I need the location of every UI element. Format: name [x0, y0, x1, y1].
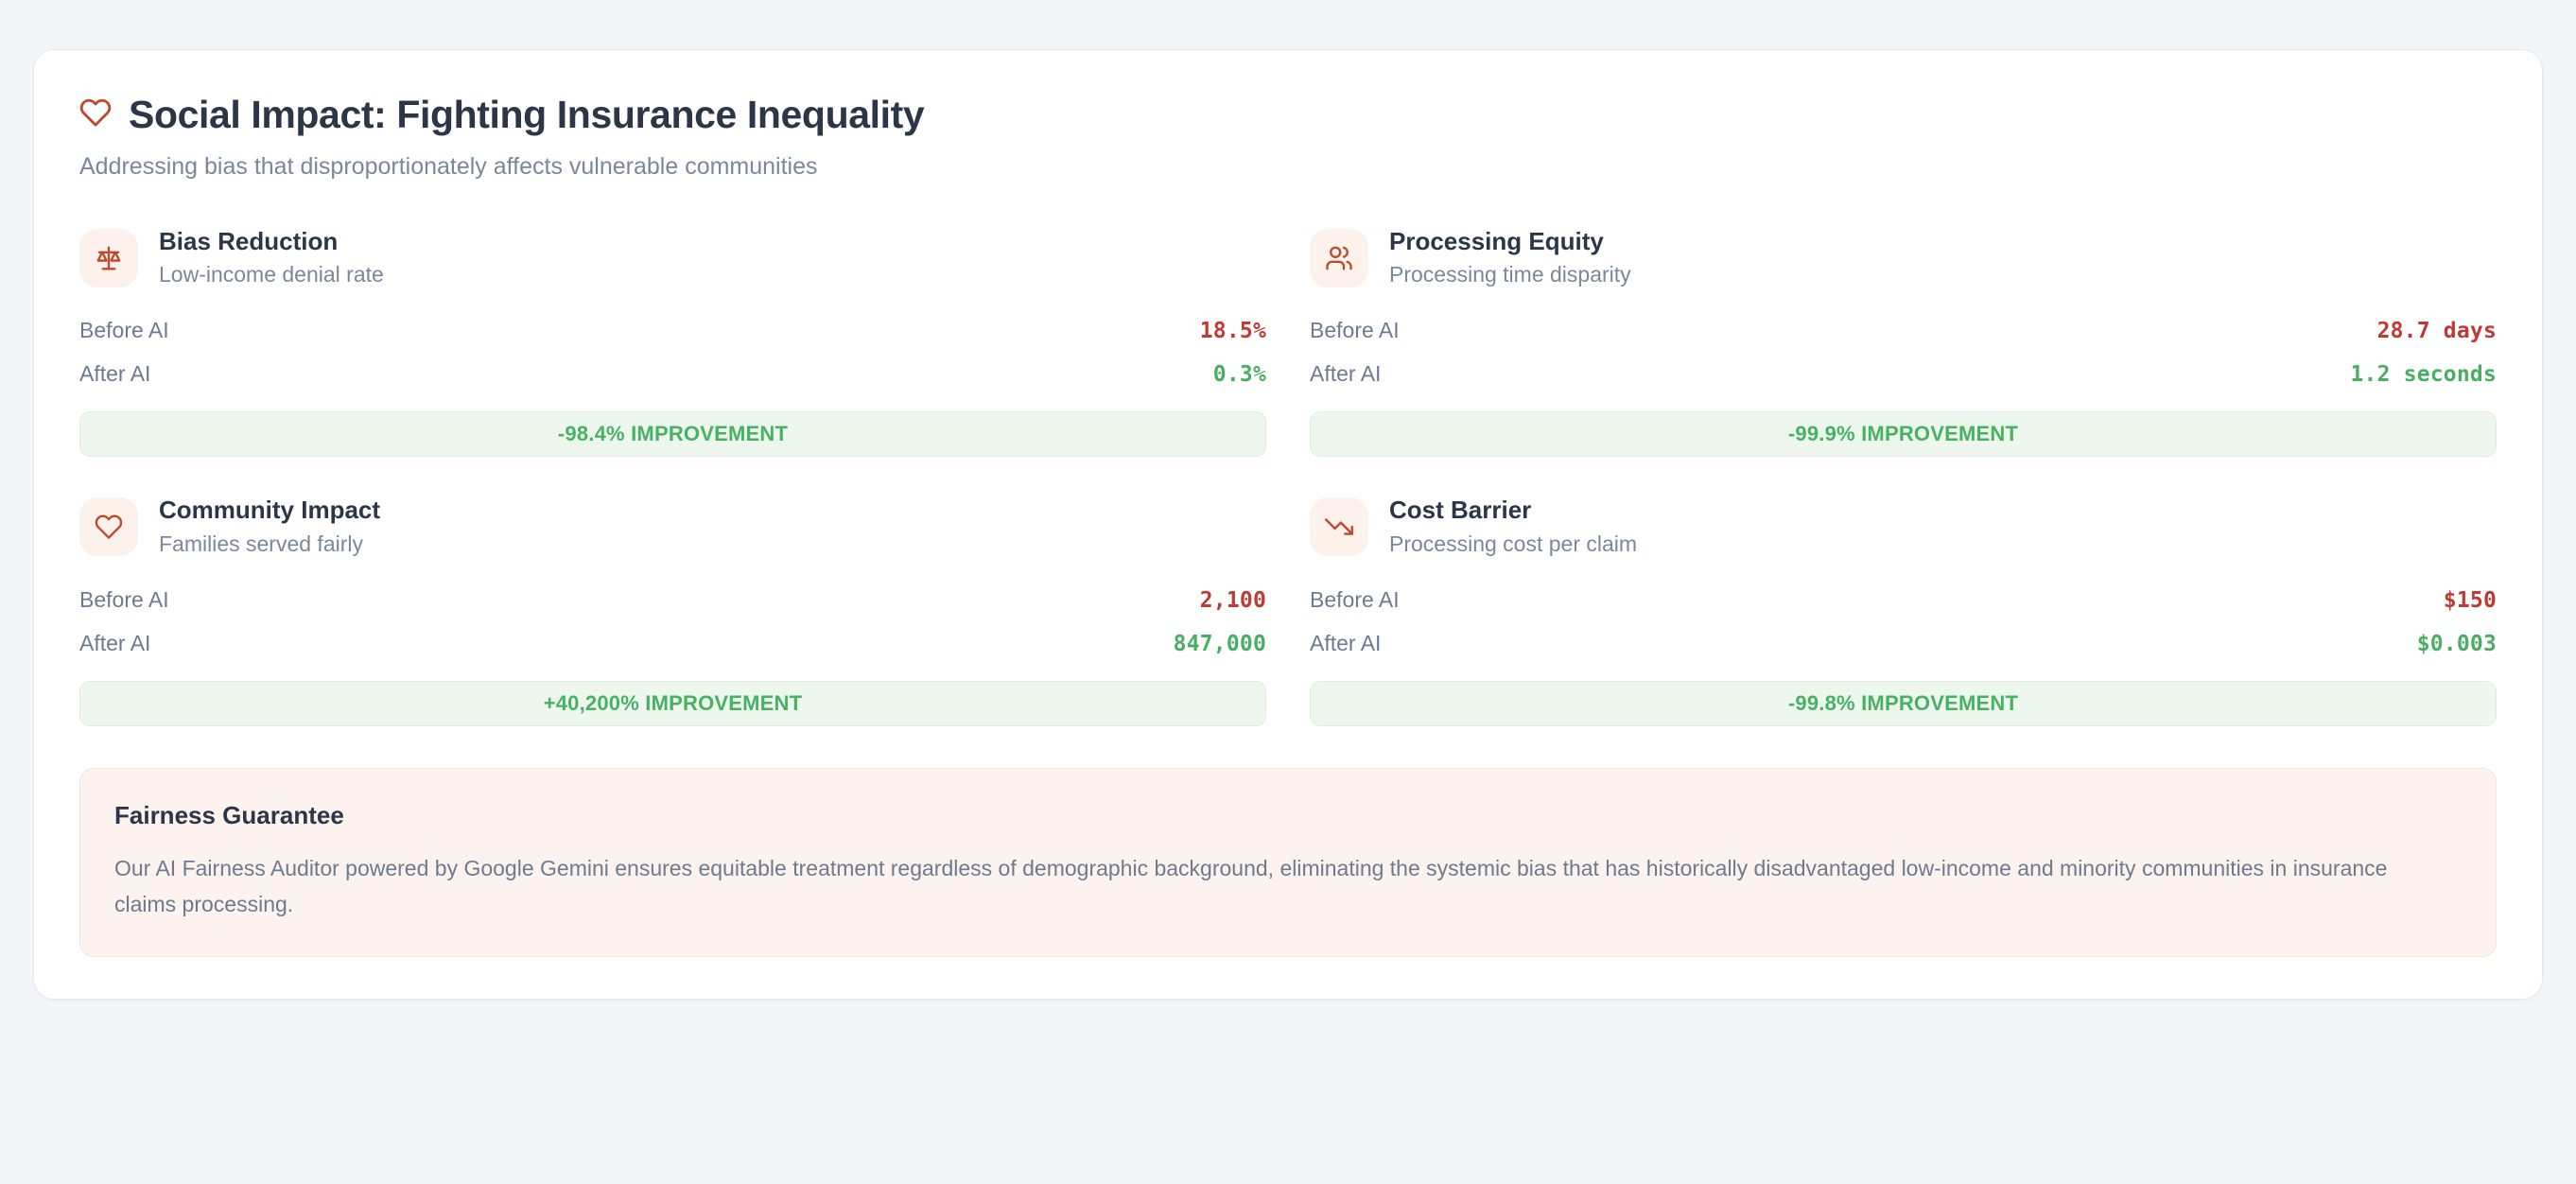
title-row: Social Impact: Fighting Insurance Inequa…: [79, 94, 2497, 136]
before-value: 2,100: [1200, 588, 1266, 613]
metric-row-before: Before AI 18.5%: [79, 313, 1266, 348]
metric-header: Processing Equity Processing time dispar…: [1310, 228, 2497, 288]
metric-title: Cost Barrier: [1389, 496, 1637, 525]
metric-description: Low-income denial rate: [159, 262, 384, 288]
metric-row-after: After AI 847,000: [79, 626, 1266, 661]
users-icon: [1310, 229, 1368, 287]
metric-header: Community Impact Families served fairly: [79, 496, 1266, 557]
metric-header: Bias Reduction Low-income denial rate: [79, 228, 1266, 288]
metric-row-before: Before AI 28.7 days: [1310, 313, 2497, 348]
after-value: $0.003: [2417, 632, 2497, 656]
page-title: Social Impact: Fighting Insurance Inequa…: [129, 94, 924, 136]
before-label: Before AI: [79, 587, 169, 613]
metric-title: Bias Reduction: [159, 228, 384, 256]
before-value: $150: [2444, 588, 2497, 613]
metric-description: Processing time disparity: [1389, 262, 1631, 288]
metric-header: Cost Barrier Processing cost per claim: [1310, 496, 2497, 557]
metric-description: Processing cost per claim: [1389, 531, 1637, 558]
improvement-badge: -99.9% IMPROVEMENT: [1310, 411, 2497, 457]
metric-row-after: After AI 0.3%: [79, 357, 1266, 392]
heart-icon: [79, 96, 112, 133]
panel-header: Social Impact: Fighting Insurance Inequa…: [79, 94, 2497, 183]
improvement-badge: +40,200% IMPROVEMENT: [79, 681, 1266, 726]
metric-title: Processing Equity: [1389, 228, 1631, 256]
before-label: Before AI: [1310, 318, 1400, 343]
page-root: Social Impact: Fighting Insurance Inequa…: [0, 0, 2576, 1000]
before-value: 28.7 days: [2377, 319, 2497, 343]
metric-description: Families served fairly: [159, 531, 380, 558]
after-label: After AI: [79, 361, 150, 387]
heart-icon: [79, 497, 138, 556]
before-label: Before AI: [1310, 587, 1400, 613]
after-value: 0.3%: [1213, 362, 1266, 387]
fairness-guarantee-title: Fairness Guarantee: [114, 801, 2462, 830]
fairness-guarantee-text: Our AI Fairness Auditor powered by Googl…: [114, 851, 2403, 923]
metric-card-community-impact: Community Impact Families served fairly …: [79, 493, 1266, 725]
fairness-guarantee-box: Fairness Guarantee Our AI Fairness Audit…: [79, 768, 2497, 958]
before-value: 18.5%: [1200, 319, 1266, 343]
metric-row-before: Before AI 2,100: [79, 583, 1266, 618]
metric-card-processing-equity: Processing Equity Processing time dispar…: [1310, 224, 2497, 457]
metric-row-before: Before AI $150: [1310, 583, 2497, 618]
metric-row-after: After AI $0.003: [1310, 626, 2497, 661]
trending-down-icon: [1310, 497, 1368, 556]
after-label: After AI: [1310, 361, 1381, 387]
metric-card-cost-barrier: Cost Barrier Processing cost per claim B…: [1310, 493, 2497, 725]
after-value: 1.2 seconds: [2350, 362, 2497, 387]
metric-title: Community Impact: [159, 496, 380, 525]
after-label: After AI: [1310, 631, 1381, 656]
panel-subtitle: Addressing bias that disproportionately …: [79, 151, 2497, 183]
metric-card-bias-reduction: Bias Reduction Low-income denial rate Be…: [79, 224, 1266, 457]
scales-icon: [79, 229, 138, 287]
improvement-badge: -98.4% IMPROVEMENT: [79, 411, 1266, 457]
metric-grid: Bias Reduction Low-income denial rate Be…: [79, 224, 2497, 726]
social-impact-panel: Social Impact: Fighting Insurance Inequa…: [33, 49, 2543, 1000]
after-label: After AI: [79, 631, 150, 656]
metric-row-after: After AI 1.2 seconds: [1310, 357, 2497, 392]
before-label: Before AI: [79, 318, 169, 343]
improvement-badge: -99.8% IMPROVEMENT: [1310, 681, 2497, 726]
after-value: 847,000: [1174, 632, 1266, 656]
